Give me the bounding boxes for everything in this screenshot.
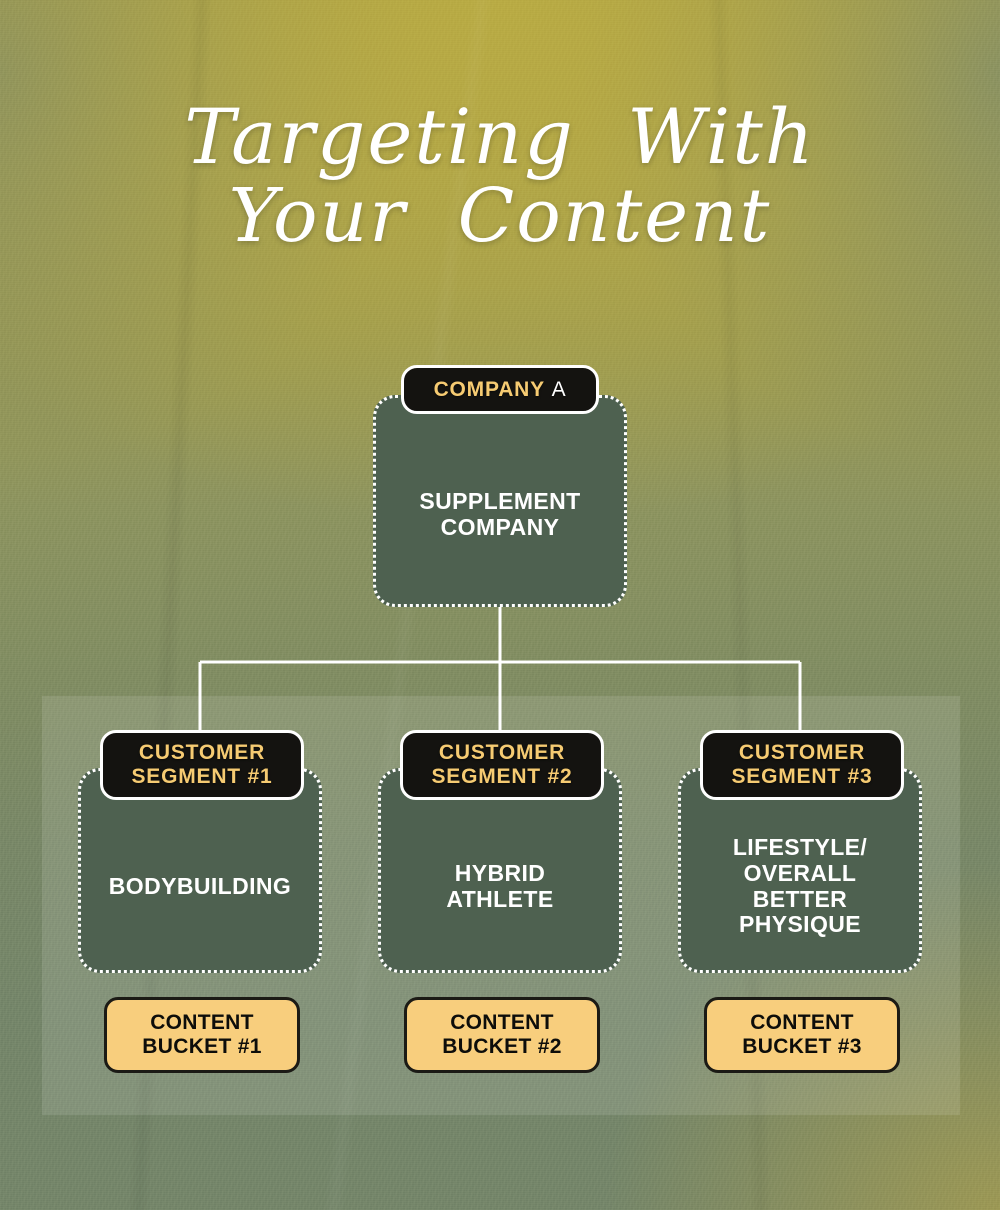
node-company-a-label-gold: COMPANY — [434, 378, 545, 402]
page-title: Targeting With Your Content — [0, 96, 1000, 256]
node-customer-segment-3-body-text: LIFESTYLE/ OVERALL BETTER PHYSIQUE — [719, 834, 881, 938]
node-company-a-label: COMPANY A — [401, 365, 599, 414]
node-customer-segment-3[interactable]: LIFESTYLE/ OVERALL BETTER PHYSIQUE CUSTO… — [678, 768, 922, 973]
node-customer-segment-2-body-text: HYBRID ATHLETE — [432, 860, 567, 912]
node-customer-segment-1[interactable]: BODYBUILDING CUSTOMER SEGMENT #1 — [78, 768, 322, 973]
node-customer-segment-1-body-text: BODYBUILDING — [95, 873, 305, 899]
node-customer-segment-3-label: CUSTOMER SEGMENT #3 — [700, 730, 904, 800]
page-title-line-2: Your Content — [0, 177, 1000, 256]
node-customer-segment-2[interactable]: HYBRID ATHLETE CUSTOMER SEGMENT #2 — [378, 768, 622, 973]
page-title-line-1: Targeting With — [0, 96, 1000, 177]
content-bucket-2[interactable]: CONTENT BUCKET #2 — [404, 997, 600, 1073]
node-company-a[interactable]: SUPPLEMENT COMPANY COMPANY A — [373, 395, 627, 607]
node-company-a-body: SUPPLEMENT COMPANY — [373, 395, 627, 607]
node-customer-segment-1-label: CUSTOMER SEGMENT #1 — [100, 730, 304, 800]
content-bucket-1[interactable]: CONTENT BUCKET #1 — [104, 997, 300, 1073]
node-customer-segment-2-label: CUSTOMER SEGMENT #2 — [400, 730, 604, 800]
content-bucket-3[interactable]: CONTENT BUCKET #3 — [704, 997, 900, 1073]
infographic-canvas: Targeting With Your Content SUPPLEMENT C… — [0, 0, 1000, 1210]
node-company-a-label-letter: A — [552, 378, 567, 402]
node-company-a-body-text: SUPPLEMENT COMPANY — [405, 488, 594, 540]
